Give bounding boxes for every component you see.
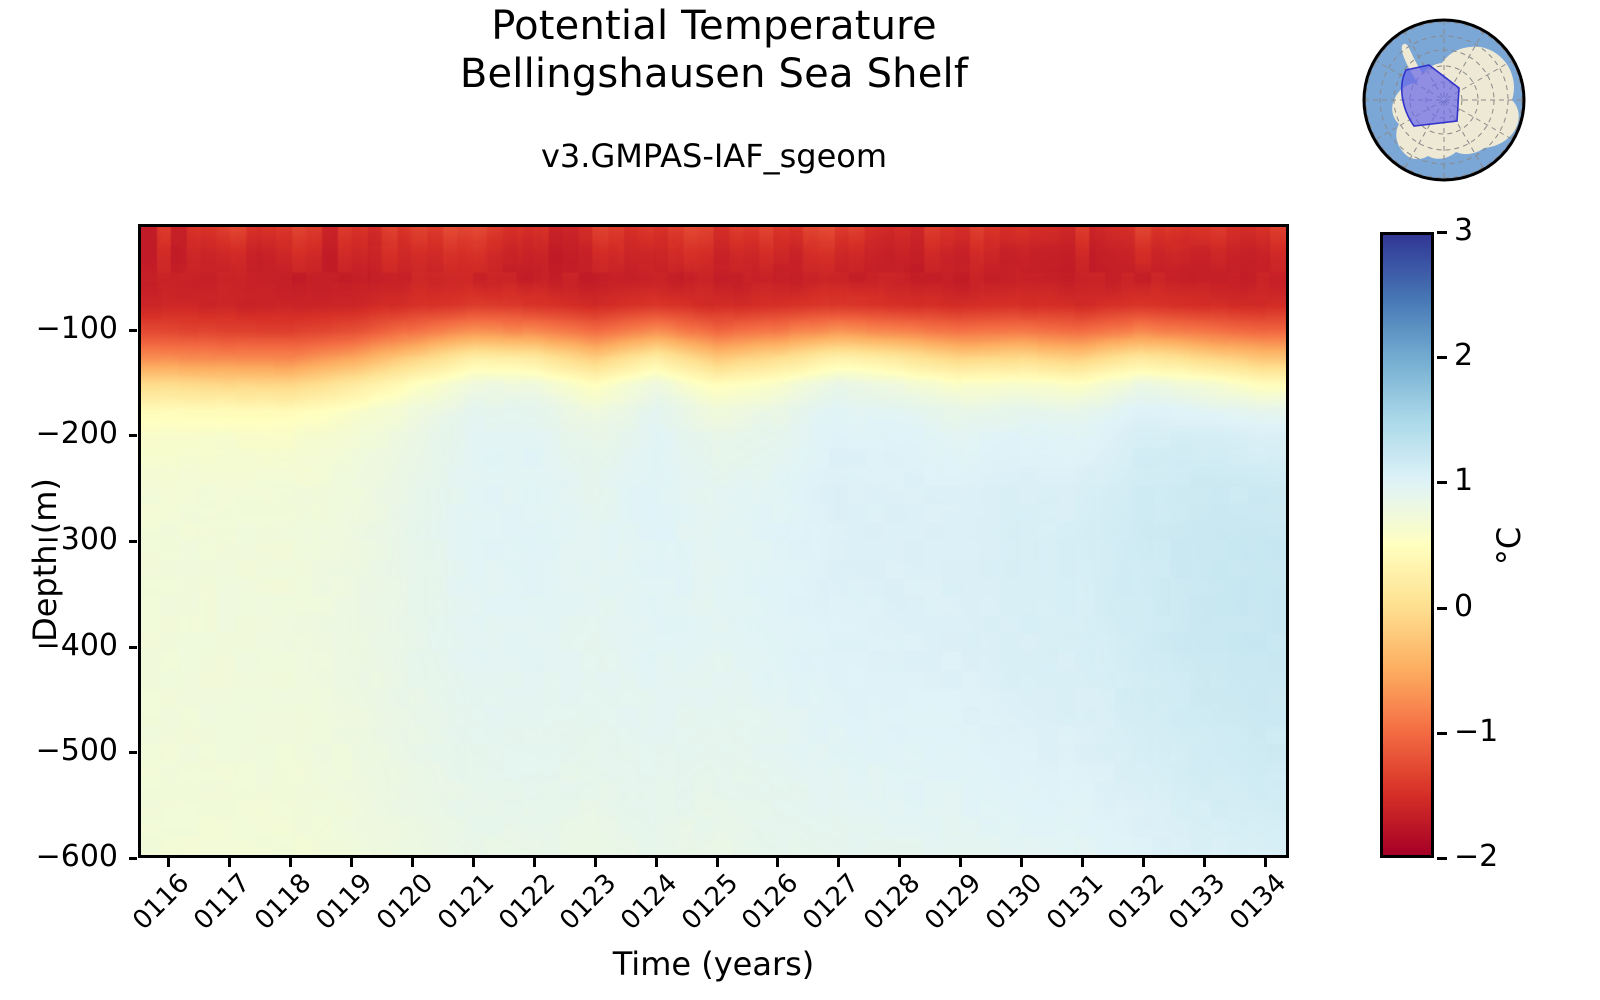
x-tick-mark	[411, 858, 414, 867]
x-tick-mark	[716, 858, 719, 867]
x-tick-mark	[776, 858, 779, 867]
x-tick-mark	[959, 858, 962, 867]
figure-canvas: Potential Temperature Bellingshausen Sea…	[0, 0, 1600, 1000]
colorbar-tick-label: 2	[1454, 341, 1473, 371]
colorbar-tick-mark	[1437, 607, 1447, 610]
x-tick-mark	[350, 858, 353, 867]
colorbar-tick-mark	[1437, 481, 1447, 484]
colorbar-unit-label: °C	[1490, 486, 1528, 606]
heatmap-plot-area	[138, 224, 1289, 858]
x-tick-mark	[1020, 858, 1023, 867]
colorbar-tick-label: 0	[1454, 592, 1473, 622]
colorbar-gradient	[1383, 235, 1431, 855]
chart-title-line-1: Potential Temperature	[138, 2, 1290, 50]
y-tick-mark	[129, 646, 137, 649]
colorbar-tick-label: 3	[1454, 216, 1473, 246]
x-tick-mark	[472, 858, 475, 867]
colorbar-tick-label: −1	[1454, 717, 1498, 747]
y-tick-mark	[129, 540, 137, 543]
colorbar-tick-label: −2	[1454, 842, 1498, 872]
x-tick-mark	[1203, 858, 1206, 867]
x-tick-mark	[1264, 858, 1267, 867]
y-tick-mark	[129, 329, 137, 332]
colorbar-tick-mark	[1437, 231, 1447, 234]
x-tick-mark	[898, 858, 901, 867]
x-tick-mark	[533, 858, 536, 867]
x-tick-mark	[1081, 858, 1084, 867]
colorbar-tick-mark	[1437, 356, 1447, 359]
colorbar-tick-label: 1	[1454, 466, 1473, 496]
colorbar	[1380, 232, 1434, 858]
x-tick-mark	[837, 858, 840, 867]
locator-map-svg	[1358, 14, 1530, 186]
colorbar-tick-mark	[1437, 857, 1447, 860]
y-tick-mark	[129, 434, 137, 437]
x-tick-mark	[655, 858, 658, 867]
colorbar-tick-mark	[1437, 732, 1447, 735]
chart-title-line-2: Bellingshausen Sea Shelf	[138, 50, 1290, 98]
x-axis-label: Time (years)	[138, 945, 1289, 983]
y-tick-mark	[129, 751, 137, 754]
chart-title: Potential Temperature Bellingshausen Sea…	[138, 2, 1290, 98]
x-tick-mark	[594, 858, 597, 867]
x-tick-mark	[1142, 858, 1145, 867]
x-tick-mark	[289, 858, 292, 867]
y-tick-mark	[129, 857, 137, 860]
y-axis-label: Depth (m)	[26, 240, 64, 880]
x-tick-mark	[228, 858, 231, 867]
chart-subtitle: v3.GMPAS-IAF_sgeom	[138, 137, 1290, 175]
x-tick-mark	[167, 858, 170, 867]
antarctica-locator-map	[1358, 14, 1530, 186]
heatmap-field	[141, 227, 1286, 855]
